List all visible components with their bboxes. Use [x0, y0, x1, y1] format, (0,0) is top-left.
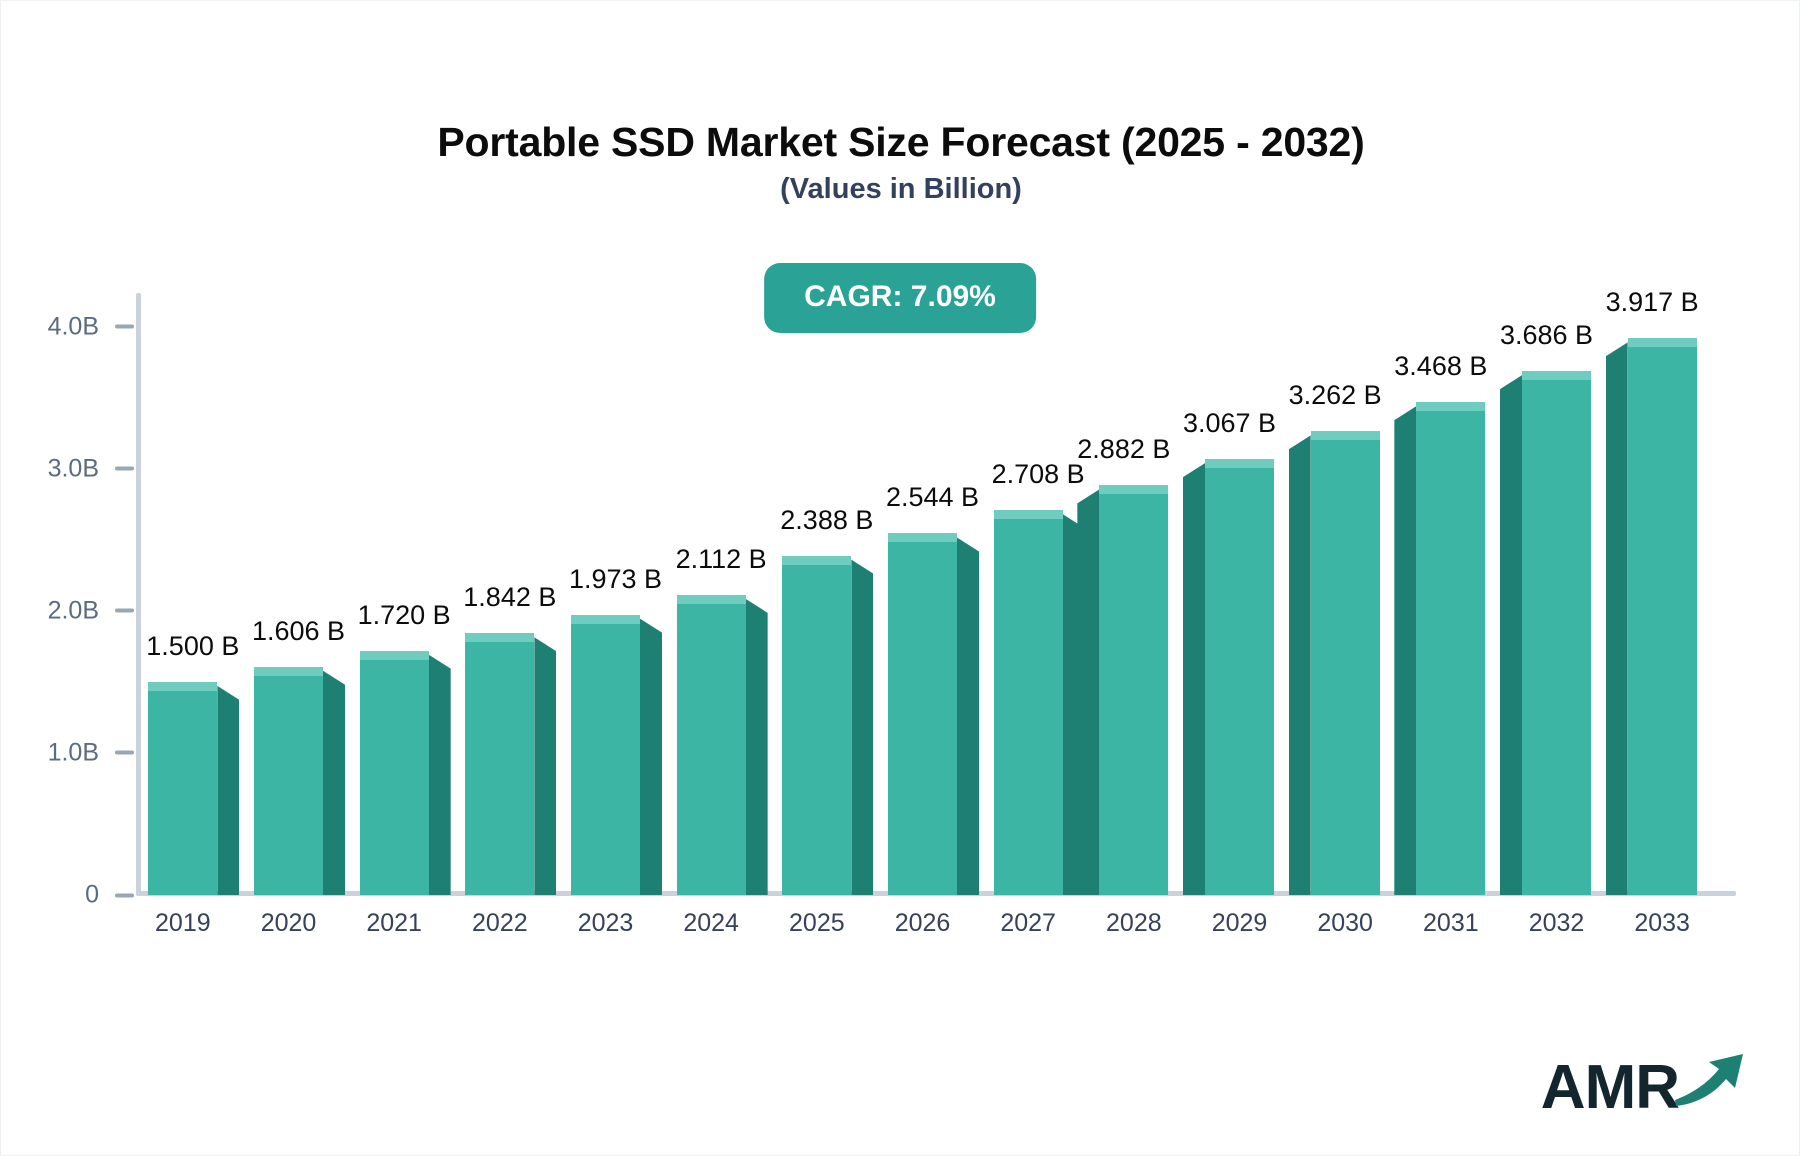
bar-value-label: 2.882 B: [1077, 434, 1170, 465]
chart-canvas: Portable SSD Market Size Forecast (2025 …: [0, 0, 1800, 1156]
x-axis-tick-label: 2032: [1529, 909, 1585, 938]
bar-side-face: [1500, 375, 1522, 895]
x-axis-tick-label: 2023: [578, 909, 634, 938]
bar-top-face: [1205, 459, 1274, 468]
bar[interactable]: [677, 595, 746, 895]
bar-front-face: [148, 682, 217, 895]
bar-top-face: [782, 556, 851, 565]
bar-front-face: [254, 667, 323, 895]
bar-value-label: 3.067 B: [1183, 408, 1276, 439]
x-axis-tick-label: 2028: [1106, 909, 1162, 938]
bar[interactable]: [465, 633, 534, 895]
y-axis-tick-label: 3.0B: [48, 454, 99, 483]
x-axis-tick-label: 2021: [366, 909, 422, 938]
x-axis-tick-label: 2019: [155, 909, 211, 938]
bar[interactable]: [994, 510, 1063, 895]
bar-side-face: [640, 619, 662, 895]
chart-subtitle: (Values in Billion): [1, 173, 1800, 206]
x-axis-tick-label: 2026: [895, 909, 951, 938]
bar-value-label: 1.500 B: [146, 631, 239, 662]
y-axis-tick-mark: [115, 609, 134, 613]
x-axis-tick-label: 2020: [261, 909, 317, 938]
y-axis-tick-mark: [115, 893, 134, 897]
x-axis-tick-label: 2025: [789, 909, 845, 938]
bar-front-face: [1522, 371, 1591, 895]
bar-front-face: [677, 595, 746, 895]
y-axis-tick-label: 0: [85, 881, 99, 910]
bar[interactable]: [571, 615, 640, 895]
bar-value-label: 1.606 B: [252, 616, 345, 647]
bar[interactable]: [1416, 402, 1485, 895]
bar-top-face: [465, 633, 534, 642]
y-axis-tick: 1.0B: [48, 738, 134, 767]
bar-top-face: [360, 651, 429, 660]
bar[interactable]: [1628, 338, 1697, 895]
bar-side-face: [1606, 342, 1628, 895]
y-axis-tick-mark: [115, 467, 134, 471]
bar[interactable]: [1522, 371, 1591, 895]
bar-side-face: [1289, 435, 1311, 895]
bar-value-label: 3.917 B: [1606, 287, 1699, 318]
bar-value-label: 1.973 B: [569, 564, 662, 595]
bar[interactable]: [888, 533, 957, 895]
x-axis-tick-label: 2029: [1212, 909, 1268, 938]
bar[interactable]: [1311, 431, 1380, 895]
y-axis-tick-label: 1.0B: [48, 738, 99, 767]
bar-front-face: [360, 651, 429, 895]
bar-front-face: [1205, 459, 1274, 895]
bar-front-face: [994, 510, 1063, 895]
bar-value-label: 3.262 B: [1289, 380, 1382, 411]
x-axis-tick-label: 2022: [472, 909, 528, 938]
bar-value-label: 3.686 B: [1500, 320, 1593, 351]
bar-front-face: [465, 633, 534, 895]
bar-front-face: [782, 556, 851, 895]
bar[interactable]: [1099, 485, 1168, 895]
bar-side-face: [217, 686, 239, 895]
bar-top-face: [888, 533, 957, 542]
bar-value-label: 1.842 B: [463, 582, 556, 613]
bar-top-face: [571, 615, 640, 624]
y-axis-ticks: 4.0B3.0B2.0B1.0B0: [1, 291, 134, 895]
bar-side-face: [534, 637, 556, 895]
y-axis-tick-mark: [115, 751, 134, 755]
x-axis-tick-label: 2030: [1317, 909, 1373, 938]
bar-side-face: [1077, 489, 1099, 895]
bar-value-label: 2.708 B: [992, 459, 1085, 490]
y-axis-tick-mark: [115, 325, 134, 329]
bar-value-label: 1.720 B: [358, 600, 451, 631]
bar-side-face: [851, 560, 873, 895]
x-axis-tick-label: 2027: [1000, 909, 1056, 938]
y-axis-tick-label: 4.0B: [48, 312, 99, 341]
bar-top-face: [254, 667, 323, 676]
bar-top-face: [148, 682, 217, 691]
bar-top-face: [994, 510, 1063, 519]
y-axis-tick: 3.0B: [48, 454, 134, 483]
chart-title: Portable SSD Market Size Forecast (2025 …: [1, 119, 1800, 166]
x-axis-tick-label: 2033: [1634, 909, 1690, 938]
bar-top-face: [1099, 485, 1168, 494]
bar-top-face: [1522, 371, 1591, 380]
bar-side-face: [429, 655, 451, 895]
y-axis-tick-label: 2.0B: [48, 596, 99, 625]
bar[interactable]: [782, 556, 851, 895]
bar-front-face: [1311, 431, 1380, 895]
bar-top-face: [1311, 431, 1380, 440]
bar-side-face: [746, 599, 768, 895]
bar-value-label: 2.544 B: [886, 482, 979, 513]
amr-logo: AMR: [1541, 1048, 1747, 1119]
plot-area: 1.500 B1.606 B1.720 B1.842 B1.973 B2.112…: [136, 291, 1721, 895]
x-axis-tick-label: 2024: [683, 909, 739, 938]
bar[interactable]: [254, 667, 323, 895]
bar-side-face: [1394, 406, 1416, 895]
bar[interactable]: [1205, 459, 1274, 895]
bar-value-label: 3.468 B: [1394, 351, 1487, 382]
bar-front-face: [1628, 338, 1697, 895]
bar-front-face: [571, 615, 640, 895]
bar-front-face: [1099, 485, 1168, 895]
bar-side-face: [957, 537, 979, 895]
y-axis-tick: 4.0B: [48, 312, 134, 341]
growth-arrow-icon: [1673, 1048, 1747, 1113]
bar-value-label: 2.112 B: [676, 544, 767, 575]
y-axis-tick: 0: [85, 881, 134, 910]
bar-value-label: 2.388 B: [780, 505, 873, 536]
bar[interactable]: [148, 682, 217, 895]
bar-top-face: [1416, 402, 1485, 411]
bar-side-face: [1183, 463, 1205, 895]
bar-top-face: [677, 595, 746, 604]
bar-front-face: [888, 533, 957, 895]
bar-side-face: [323, 671, 345, 895]
bar-top-face: [1628, 338, 1697, 347]
x-axis-tick-label: 2031: [1423, 909, 1479, 938]
bar-front-face: [1416, 402, 1485, 895]
bar[interactable]: [360, 651, 429, 895]
y-axis-tick: 2.0B: [48, 596, 134, 625]
amr-logo-text: AMR: [1541, 1057, 1679, 1119]
